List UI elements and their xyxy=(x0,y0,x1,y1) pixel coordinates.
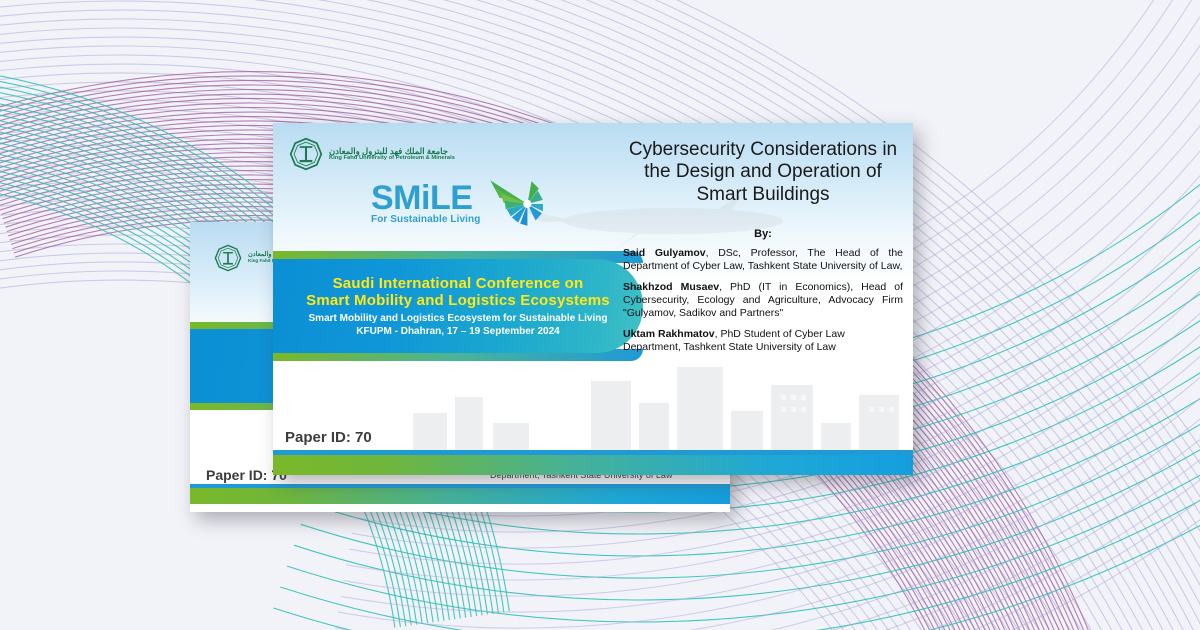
by-label: By: xyxy=(623,228,903,240)
kfupm-english-name: King Fahd University of Petroleum & Mine… xyxy=(329,155,455,161)
banner-line-3: Smart Mobility and Logistics Ecosystem f… xyxy=(309,313,608,324)
paper-id-label: Paper ID: 70 xyxy=(285,429,372,446)
kfupm-logo: جامعة الملك فهد للبترول والمعادن King Fa… xyxy=(289,137,455,171)
kfupm-seal-icon xyxy=(289,137,323,171)
footer-gradient-band xyxy=(273,455,913,475)
front-slide[interactable]: جامعة الملك فهد للبترول والمعادن King Fa… xyxy=(273,123,913,475)
footer-gradient-band xyxy=(190,488,730,504)
author-entry: Said Gulyamov, DSc, Professor, The Head … xyxy=(623,247,903,272)
paper-title: Cybersecurity Considerations in the Desi… xyxy=(623,139,903,206)
banner-line-4: KFUPM - Dhahran, 17 – 19 September 2024 xyxy=(356,326,559,337)
paper-info-column: Cybersecurity Considerations in the Desi… xyxy=(623,139,903,353)
smile-wordmark: SMiLE xyxy=(371,183,480,214)
author-entry: Shakhzod Musaev, PhD (IT in Economics), … xyxy=(623,281,903,319)
smile-fan-icon xyxy=(484,178,546,230)
author-name: Uktam Rakhmatov xyxy=(623,328,715,340)
author-name: Shakhzod Musaev xyxy=(623,281,719,293)
kfupm-seal-icon xyxy=(214,244,242,272)
smile-logo: SMiLE For Sustainable Living xyxy=(371,178,546,230)
author-entry: Uktam Rakhmatov, PhD Student of Cyber La… xyxy=(623,328,903,353)
conference-banner: Saudi International Conference on Smart … xyxy=(273,251,643,361)
kfupm-arabic-name: جامعة الملك فهد للبترول والمعادن xyxy=(329,147,455,156)
author-name: Said Gulyamov xyxy=(623,247,706,259)
banner-line-2: Smart Mobility and Logistics Ecosystems xyxy=(306,292,610,309)
smile-tagline: For Sustainable Living xyxy=(371,214,480,225)
poster-preview-canvas: جامعة الملك فهد للبترول والمعادن King Fa… xyxy=(0,0,1200,630)
banner-line-1: Saudi International Conference on xyxy=(333,275,584,292)
